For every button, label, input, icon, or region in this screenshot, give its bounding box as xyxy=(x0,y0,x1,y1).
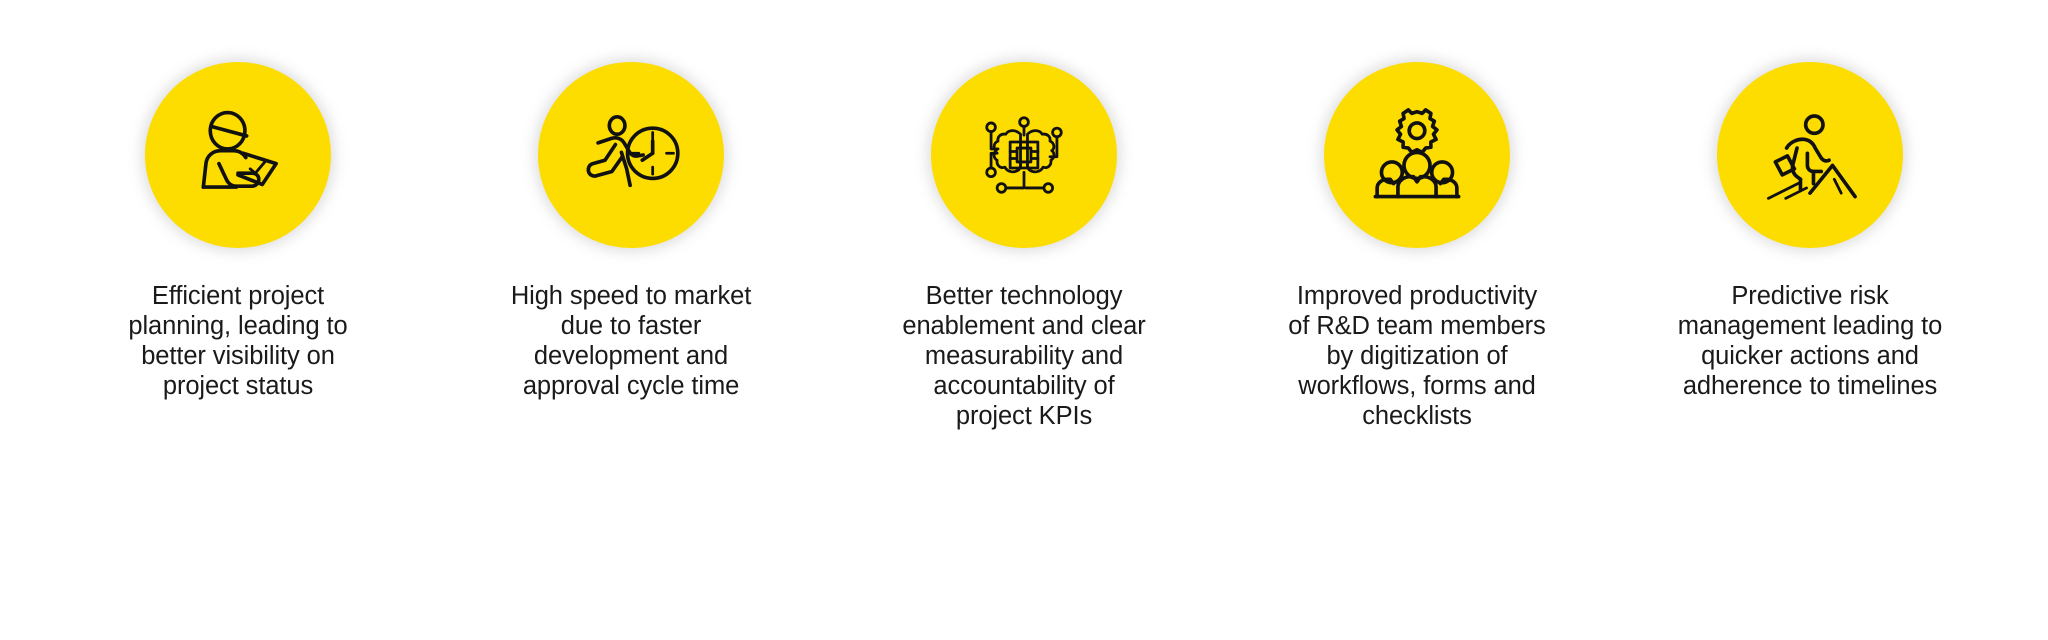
benefit-card: Improved productivity of R&D team member… xyxy=(1263,62,1571,432)
benefit-caption: Better technology enablement and clear m… xyxy=(874,282,1174,432)
icon-circle xyxy=(145,62,331,248)
brain-circuit-chip-icon xyxy=(972,103,1076,207)
icon-circle xyxy=(538,62,724,248)
benefit-card: Better technology enablement and clear m… xyxy=(870,62,1178,432)
benefit-caption: Efficient project planning, leading to b… xyxy=(88,282,388,402)
benefit-caption: Predictive risk management leading to qu… xyxy=(1660,282,1960,402)
icon-circle xyxy=(931,62,1117,248)
benefit-card: Efficient project planning, leading to b… xyxy=(84,62,392,402)
benefit-caption: High speed to market due to faster devel… xyxy=(481,282,781,402)
runner-with-clock-icon xyxy=(579,103,683,207)
engineer-with-blueprint-icon xyxy=(186,103,290,207)
icon-circle xyxy=(1717,62,1903,248)
icon-circle xyxy=(1324,62,1510,248)
businessperson-climbing-mountain-icon xyxy=(1758,103,1862,207)
benefit-card: Predictive risk management leading to qu… xyxy=(1656,62,1964,402)
benefit-caption: Improved productivity of R&D team member… xyxy=(1267,282,1567,432)
benefit-card: High speed to market due to faster devel… xyxy=(477,62,785,402)
benefits-strip: Efficient project planning, leading to b… xyxy=(84,0,1964,432)
team-with-gear-icon xyxy=(1365,103,1469,207)
